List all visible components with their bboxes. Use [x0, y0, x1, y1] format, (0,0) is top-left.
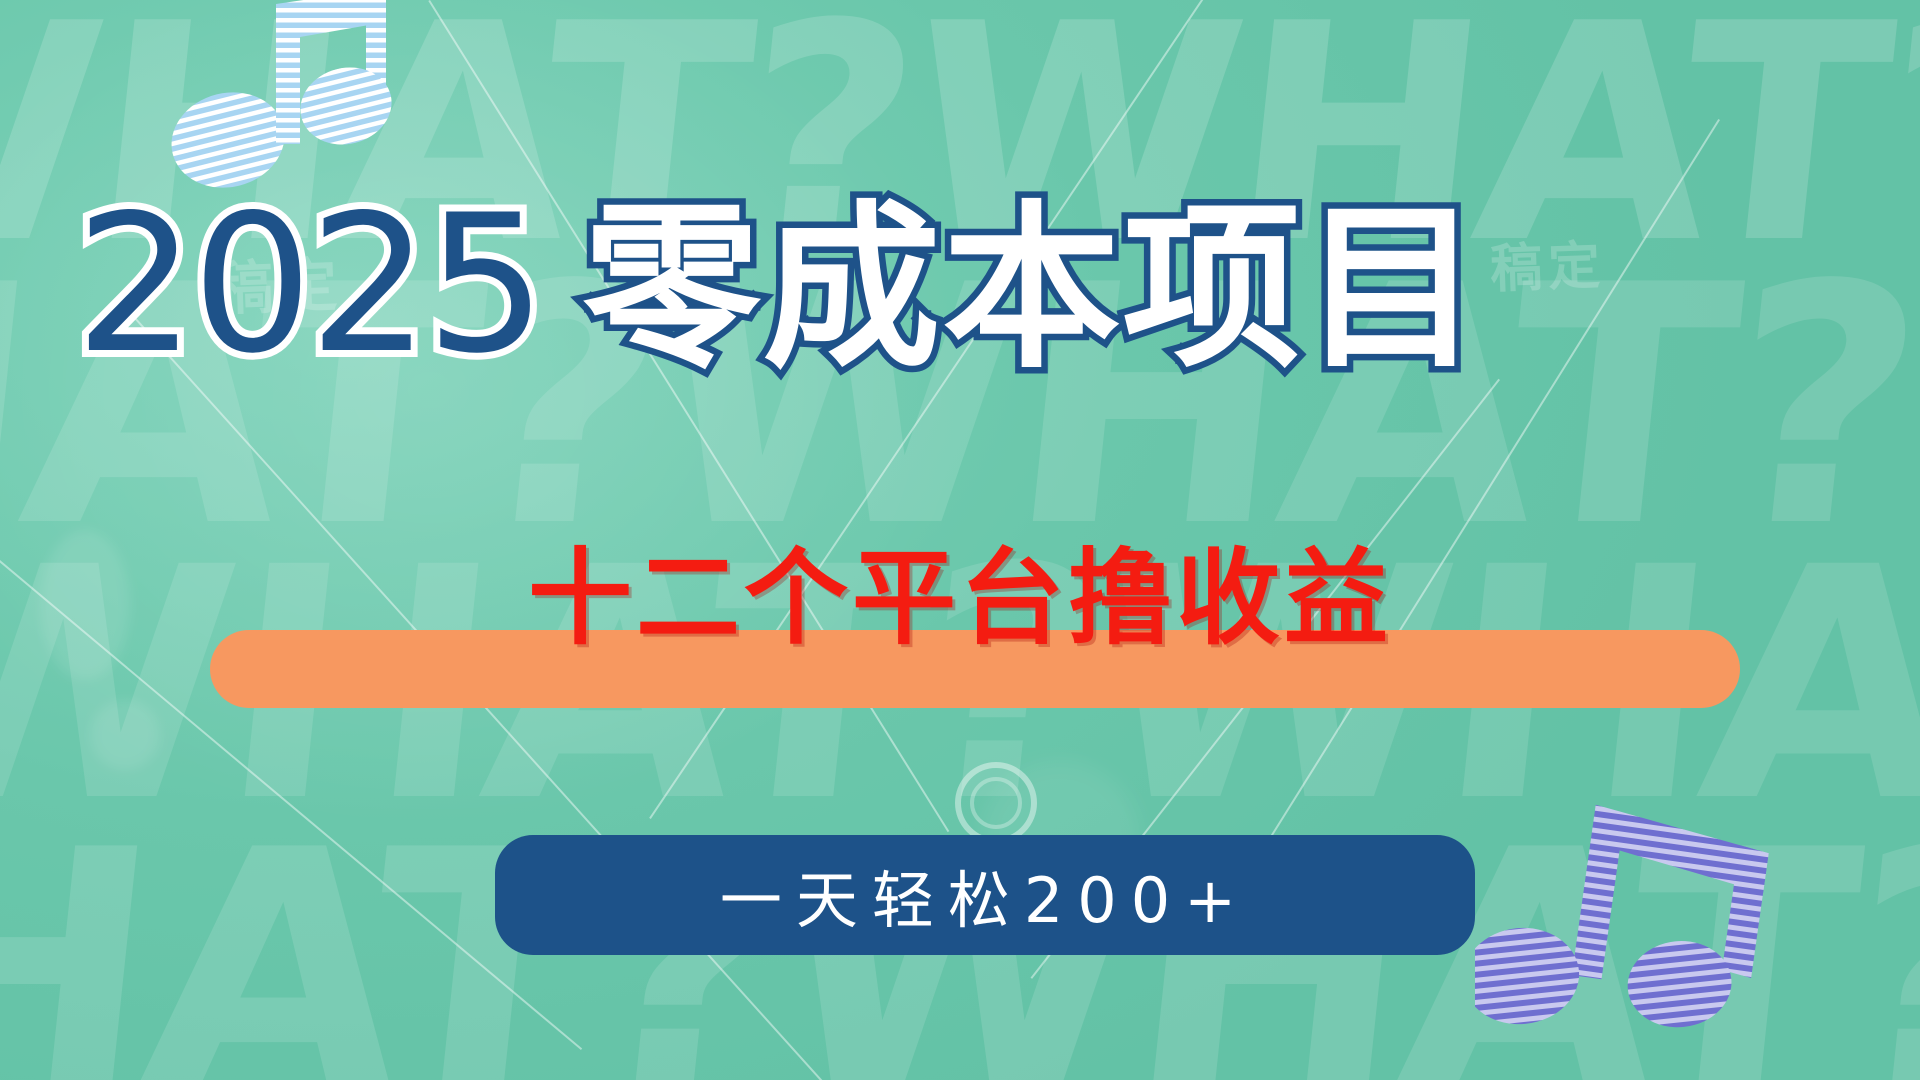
cta-pill[interactable]: 一天轻松200+ — [495, 835, 1475, 955]
subtitle-red: 十二个平台撸收益 — [0, 540, 1920, 656]
headline-phrase: 零成本项目 — [583, 200, 1483, 378]
poster-canvas: WHAT?WHAT?WHAT? WHAT?WHAT?WHAT? WHAT?WHA… — [0, 0, 1920, 1080]
headline-group: 2025 零成本项目 — [75, 190, 1483, 380]
headline-year: 2025 — [75, 190, 543, 380]
cta-label: 一天轻松200+ — [720, 850, 1250, 940]
